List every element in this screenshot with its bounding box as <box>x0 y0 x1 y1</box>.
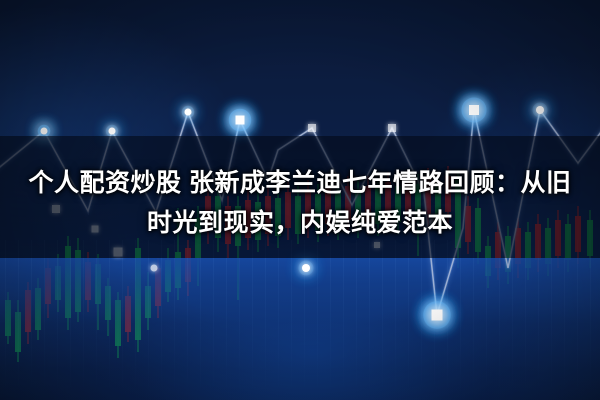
candle-body <box>95 264 101 304</box>
zigzag-node <box>469 105 479 115</box>
candle-body <box>125 296 131 332</box>
candle-body <box>105 286 111 320</box>
background-vertical-streaks <box>0 240 600 400</box>
background-lower-blue-field <box>0 258 600 400</box>
candle-body <box>85 262 91 300</box>
zigzag-node-glow <box>299 261 314 276</box>
zigzag-node <box>432 310 443 321</box>
zigzag-node-glow <box>462 98 487 123</box>
zigzag-node-glow <box>533 103 548 118</box>
zigzag-node-glow <box>423 301 451 329</box>
thumbnail-image: 个人配资炒股 张新成李兰迪七年情路回顾：从旧 时光到现实，内娱纯爱范本 <box>0 0 600 400</box>
zigzag-node <box>41 128 48 135</box>
zigzag-node <box>151 265 158 272</box>
candle-body <box>25 290 31 332</box>
zigzag-node-glow <box>106 125 119 138</box>
zigzag-node-glow <box>182 106 195 119</box>
candle-body <box>75 250 81 312</box>
candle-body <box>55 266 61 300</box>
zigzag-node <box>536 106 544 114</box>
zigzag-node <box>236 116 245 125</box>
candle-body <box>65 246 71 318</box>
zigzag-node <box>302 264 310 272</box>
candle-body <box>35 288 41 330</box>
zigzag-node <box>114 248 123 257</box>
candle-body <box>45 268 51 304</box>
zigzag-node-glow <box>38 125 51 138</box>
headline-line-2: 时光到现实，内娱纯爱范本 <box>0 203 600 243</box>
zigzag-node <box>109 128 116 135</box>
candle-body <box>115 300 121 346</box>
zigzag-node-glow <box>229 109 252 132</box>
candle-body <box>15 312 21 352</box>
zigzag-node <box>308 124 316 132</box>
candle-body <box>185 248 191 282</box>
headline-text: 个人配资炒股 张新成李兰迪七年情路回顾：从旧 时光到现实，内娱纯爱范本 <box>0 163 600 243</box>
zigzag-node <box>388 124 396 132</box>
candle-body <box>165 260 171 292</box>
headline-line-1: 个人配资炒股 张新成李兰迪七年情路回顾：从旧 <box>0 163 600 203</box>
candle-body <box>485 246 491 276</box>
candle-body <box>155 268 161 306</box>
candle-body <box>145 286 151 318</box>
candle-body <box>135 248 141 340</box>
candle-body <box>175 252 181 288</box>
zigzag-node <box>185 109 192 116</box>
candle-body <box>5 300 11 336</box>
